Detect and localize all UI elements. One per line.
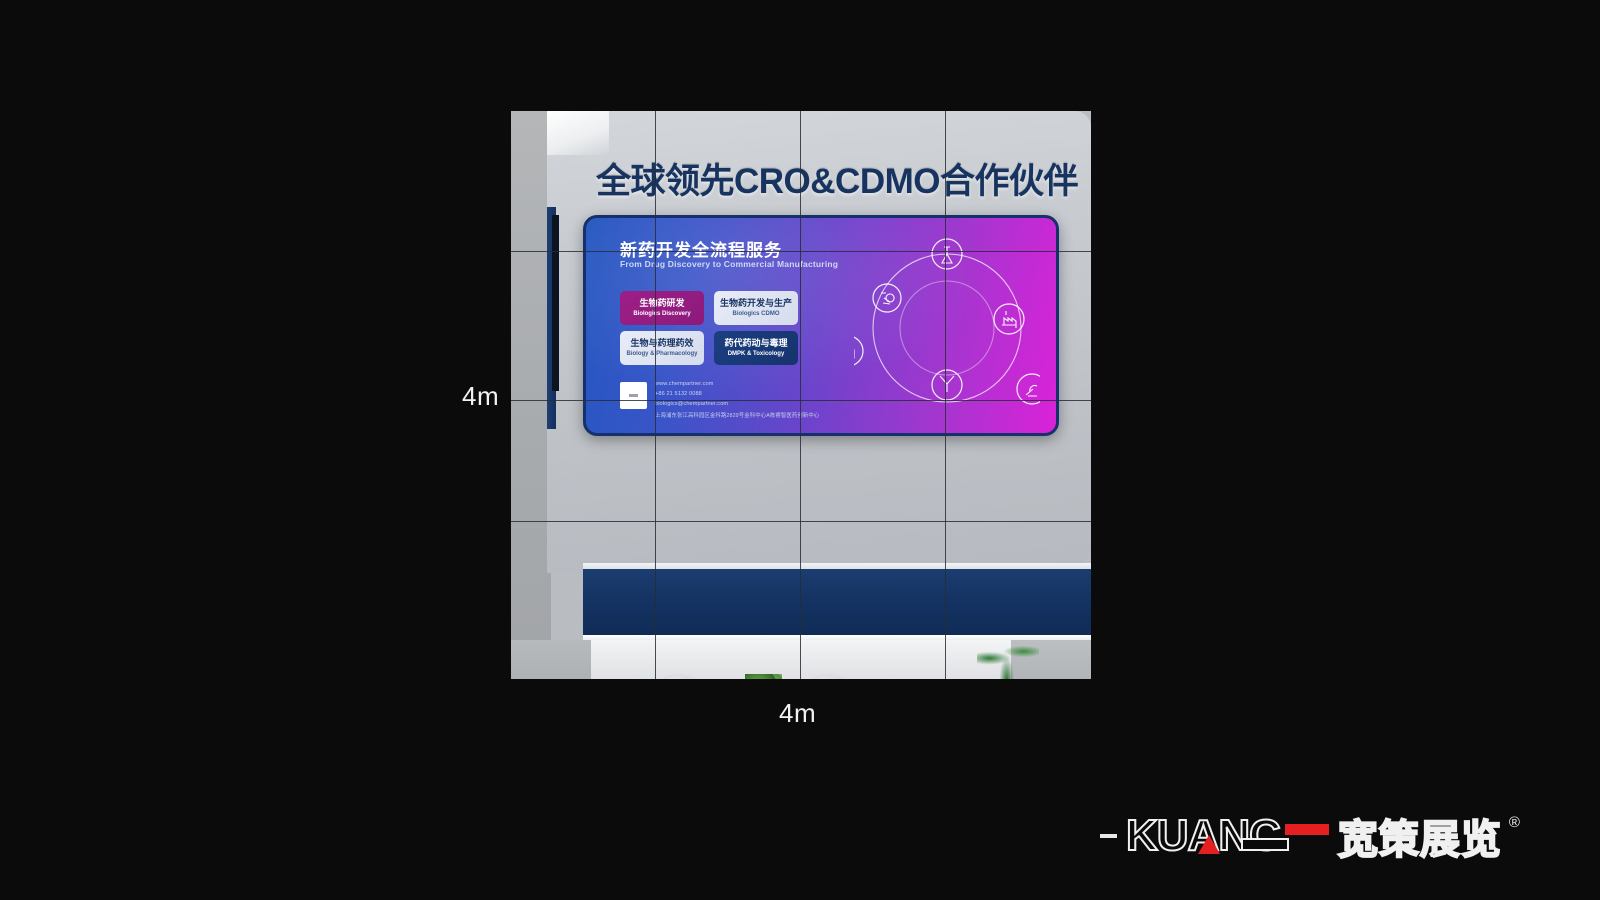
poster-subtitle: From Drug Discovery to Commercial Manufa…: [620, 259, 838, 269]
service-box-biologics-discovery: 生物药研发 Biologics Discovery: [620, 291, 704, 325]
service-label-en: Biology & Pharmacology: [626, 351, 697, 359]
service-box-biology-pharmacology: 生物与药理药效 Biology & Pharmacology: [620, 331, 704, 365]
side-wall-left: [511, 111, 551, 679]
orbit-diagram: [854, 232, 1040, 418]
watermark-e-bar-lower: [1241, 838, 1289, 851]
service-label-en: DMPK & Toxicology: [728, 351, 785, 359]
navy-band: [583, 569, 1091, 637]
service-label-cn: 生物与药理药效: [630, 338, 693, 349]
watermark-latin-text: KUANC: [1126, 811, 1280, 861]
poster-title: 新药开发全流程服务: [620, 236, 782, 261]
watermark-dash: [1100, 834, 1117, 838]
service-label-cn: 药代药动与毒理: [724, 338, 787, 349]
dimension-label-bottom: 4m: [779, 698, 816, 729]
booth-headline: 全球领先CRO&CDMO合作伙伴: [596, 153, 1061, 204]
capsule-person-icon: [854, 336, 863, 366]
lower-room: [591, 640, 1013, 679]
microscope-icon: [1017, 374, 1040, 404]
table-plant-foliage: [745, 674, 782, 679]
watermark-chinese-text: 宽策展览: [1338, 807, 1502, 865]
watermark-triangle-accent: [1198, 835, 1220, 854]
service-label-en: Biologics CDMO: [732, 311, 779, 319]
watermark-logo: KUANC 宽策展览 ®: [1100, 808, 1520, 864]
service-label-cn: 生物药开发与生产: [720, 298, 792, 309]
watermark-e-bar-accent: [1285, 824, 1329, 835]
watermark-registered-mark: ®: [1509, 814, 1520, 831]
lower-wall-left: [511, 640, 595, 679]
dimension-label-left: 4m: [462, 381, 499, 412]
contact-email: biologics@chempartner.com: [655, 401, 728, 407]
palm-plant: [977, 633, 1039, 679]
company-logo-box: [620, 382, 647, 409]
contact-address: 上海浦东张江高科园区金科路2829号金科中心A栋睿智医药创新中心: [655, 411, 819, 419]
contact-phone: +86 21 5132 0088: [655, 391, 702, 397]
wall-rib-shadow: [552, 215, 559, 391]
service-box-dmpk-toxicology: 药代药动与毒理 DMPK & Toxicology: [714, 331, 798, 365]
service-label-en: Biologics Discovery: [633, 311, 690, 319]
service-label-cn: 生物药研发: [639, 298, 684, 309]
contact-website: www.chempartner.com: [655, 381, 713, 387]
booth-render: 全球领先CRO&CDMO合作伙伴 新药开发全流程服务 From Drug Dis…: [511, 111, 1091, 679]
service-box-biologics-cdmo: 生物药开发与生产 Biologics CDMO: [714, 291, 798, 325]
molecule-icon: [873, 284, 901, 312]
screenshot-canvas: 4m 4m 全球领先CRO&CDMO合作伙伴 新药开发全流程服务 From Dr…: [0, 0, 1600, 900]
poster-panel: 新药开发全流程服务 From Drug Discovery to Commerc…: [583, 215, 1059, 436]
